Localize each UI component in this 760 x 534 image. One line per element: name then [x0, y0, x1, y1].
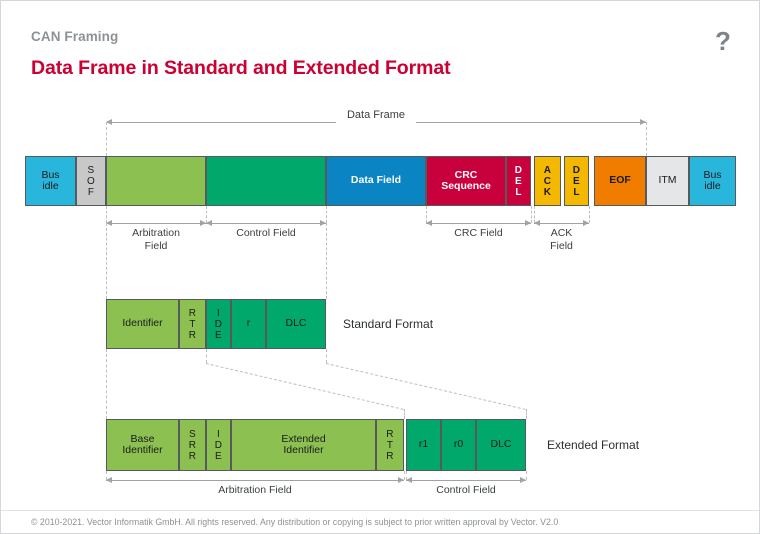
frame-segment-label-ide-ext: I D E: [213, 429, 224, 462]
copyright-notice: © 2010-2021. Vector Informatik GmbH. All…: [31, 517, 558, 527]
frame-segment-dlc[interactable]: DLC: [266, 299, 326, 349]
frame-segment-ack[interactable]: A C K: [534, 156, 561, 206]
frame-segment-label-r0: r0: [452, 439, 465, 451]
frame-segment-crc-sequence[interactable]: CRC Sequence: [426, 156, 506, 206]
frame-segment-label-itm: ITM: [656, 175, 678, 187]
bracket-line-ack-field: [534, 223, 589, 224]
top-bracket-guide-left: [106, 122, 107, 156]
std-guide-left: [106, 223, 107, 299]
standard-format-caption: Standard Format: [343, 317, 433, 331]
main-guide-4: [531, 206, 532, 223]
conn-a-diag: [206, 363, 404, 410]
frame-segment-identifier[interactable]: Identifier: [106, 299, 179, 349]
bracket-line-control-field-ext: [406, 480, 526, 481]
frame-segment-label-sof: S O F: [85, 165, 97, 198]
top-bracket-line-left: [106, 122, 336, 123]
frame-segment-dlc-ext[interactable]: DLC: [476, 419, 526, 471]
frame-segment-base-identifier[interactable]: Base Identifier: [106, 419, 179, 471]
frame-segment-itm[interactable]: ITM: [646, 156, 689, 206]
std-guide-right: [326, 223, 327, 299]
bracket-arrow-left-control-field: [206, 220, 212, 226]
bracket-arrow-left-crc-field: [426, 220, 432, 226]
frame-segment-label-r1: r1: [417, 439, 430, 451]
frame-segment-label-rtr-ext: R T R: [384, 429, 395, 462]
slide-canvas: CAN Framing Data Frame in Standard and E…: [0, 0, 760, 534]
frame-segment-r1[interactable]: r1: [406, 419, 441, 471]
frame-segment-eof[interactable]: EOF: [594, 156, 646, 206]
frame-segment-arbitration[interactable]: [106, 156, 206, 206]
frame-segment-label-bus-idle-left: Bus idle: [39, 170, 61, 193]
top-bracket-line-right: [416, 122, 646, 123]
frame-segment-rtr[interactable]: R T R: [179, 299, 206, 349]
footer-divider: [1, 510, 759, 511]
frame-segment-crc-del[interactable]: D E L: [506, 156, 531, 206]
frame-segment-ide[interactable]: I D E: [206, 299, 231, 349]
frame-segment-label-bus-idle-right: Bus idle: [701, 170, 723, 193]
bracket-arrow-right-arbitration-field-ext: [398, 477, 404, 483]
frame-segment-label-ack-del: D E L: [571, 165, 582, 198]
frame-segment-label-r: r: [245, 318, 253, 330]
bracket-line-control-field: [206, 223, 326, 224]
frame-segment-label-data-field: Data Field: [349, 175, 403, 187]
conn-a-drop: [404, 409, 405, 419]
frame-segment-r[interactable]: r: [231, 299, 266, 349]
top-bracket-guide-right: [646, 122, 647, 156]
frame-segment-ide-ext[interactable]: I D E: [206, 419, 231, 471]
frame-segment-label-ide: I D E: [213, 308, 224, 341]
frame-segment-ack-del[interactable]: D E L: [564, 156, 589, 206]
frame-segment-srr[interactable]: S R R: [179, 419, 206, 471]
help-icon[interactable]: ?: [709, 27, 737, 55]
frame-segment-label-crc-del: D E L: [513, 165, 524, 198]
bracket-line-arbitration-field: [106, 223, 206, 224]
frame-segment-label-crc-sequence: CRC Sequence: [439, 170, 493, 193]
bracket-label-arbitration-field-ext: Arbitration Field: [106, 484, 404, 497]
bracket-label-crc-field: CRC Field: [426, 227, 531, 240]
frame-segment-label-rtr: R T R: [187, 308, 198, 341]
frame-segment-bus-idle-left[interactable]: Bus idle: [25, 156, 76, 206]
conn-b-stub: [326, 349, 327, 363]
bracket-arrow-left-control-field-ext: [406, 477, 412, 483]
frame-segment-label-eof: EOF: [607, 175, 633, 187]
frame-segment-bus-idle-right[interactable]: Bus idle: [689, 156, 736, 206]
conn-b-diag: [326, 363, 526, 410]
bracket-label-control-field-ext: Control Field: [406, 484, 526, 497]
frame-segment-label-srr: S R R: [187, 429, 198, 462]
ext-guide-3: [526, 471, 527, 480]
bracket-arrow-right-crc-field: [525, 220, 531, 226]
frame-segment-rtr-ext[interactable]: R T R: [376, 419, 404, 471]
frame-segment-extended-identifier[interactable]: Extended Identifier: [231, 419, 376, 471]
frame-segment-sof[interactable]: S O F: [76, 156, 106, 206]
ext-guide-left: [106, 349, 107, 419]
frame-segment-label-identifier: Identifier: [120, 318, 164, 330]
frame-segment-data-field[interactable]: Data Field: [326, 156, 426, 206]
ext-guide-1: [404, 471, 405, 480]
frame-segment-label-extended-identifier: Extended Identifier: [279, 434, 327, 457]
frame-segment-label-ack: A C K: [542, 165, 553, 198]
extended-format-caption: Extended Format: [547, 438, 639, 452]
main-guide-2: [326, 206, 327, 223]
frame-segment-label-dlc-ext: DLC: [488, 439, 513, 451]
frame-segment-r0[interactable]: r0: [441, 419, 476, 471]
bracket-label-arbitration-field: Arbitration Field: [106, 227, 206, 253]
bracket-line-crc-field: [426, 223, 531, 224]
top-bracket-label: Data Frame: [106, 109, 646, 122]
bracket-label-ack-field: ACK Field: [534, 227, 589, 253]
slide-kicker: CAN Framing: [31, 29, 118, 44]
frame-segment-control[interactable]: [206, 156, 326, 206]
bracket-arrow-left-ack-field: [534, 220, 540, 226]
bracket-arrow-left-arbitration-field-ext: [106, 477, 112, 483]
frame-segment-label-dlc: DLC: [283, 318, 308, 330]
bracket-arrow-right-control-field-ext: [520, 477, 526, 483]
bracket-label-control-field: Control Field: [206, 227, 326, 240]
frame-segment-label-base-identifier: Base Identifier: [120, 434, 164, 457]
bracket-arrow-right-ack-field: [583, 220, 589, 226]
main-guide-6: [589, 206, 590, 223]
conn-a-stub: [206, 349, 207, 363]
conn-b-drop: [526, 409, 527, 419]
page-title: Data Frame in Standard and Extended Form…: [31, 57, 450, 80]
bracket-line-arbitration-field-ext: [106, 480, 404, 481]
